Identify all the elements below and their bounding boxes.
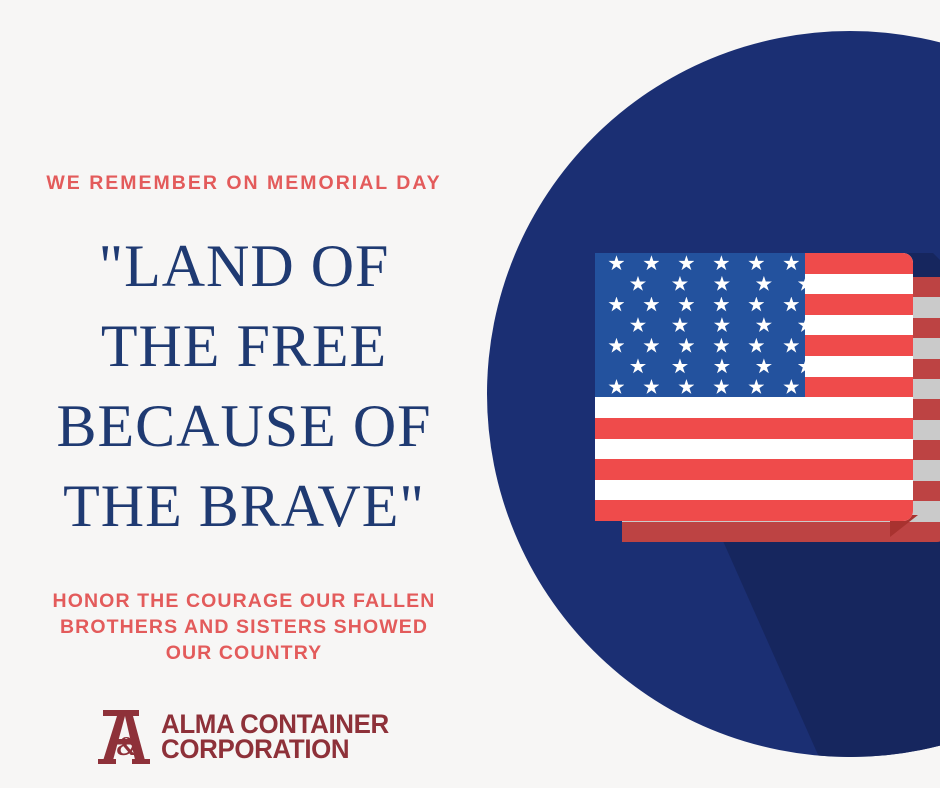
- star-icon: [756, 276, 772, 292]
- star-icon: [748, 255, 764, 271]
- star-icon: [672, 276, 688, 292]
- subtitle-line-3: OUR COUNTRY: [0, 640, 488, 666]
- star-icon: [630, 317, 646, 333]
- star-icon: [608, 338, 624, 354]
- star-icon: [714, 276, 730, 292]
- us-flag-illustration: [595, 253, 925, 543]
- company-logo: & ALMA CONTAINER CORPORATION: [0, 707, 488, 767]
- logo-wordmark: ALMA CONTAINER CORPORATION: [161, 712, 398, 762]
- star-icon: [713, 297, 729, 313]
- eyebrow-text: WE REMEMBER ON MEMORIAL DAY: [0, 172, 488, 195]
- star-icon: [783, 255, 799, 271]
- text-column: WE REMEMBER ON MEMORIAL DAY "LAND OF THE…: [0, 0, 488, 788]
- star-icon: [608, 255, 624, 271]
- star-icon: [798, 276, 814, 292]
- headline-quote: "LAND OF THE FREE BECAUSE OF THE BRAVE": [0, 226, 488, 546]
- star-icon: [643, 338, 659, 354]
- star-icon: [714, 358, 730, 374]
- star-icon: [678, 379, 694, 395]
- star-icon: [608, 297, 624, 313]
- star-icon: [643, 255, 659, 271]
- star-icon: [678, 297, 694, 313]
- star-icon: [756, 317, 772, 333]
- star-icon: [713, 255, 729, 271]
- star-icon: [678, 255, 694, 271]
- star-icon: [748, 379, 764, 395]
- headline-line-4: THE BRAVE": [0, 466, 488, 546]
- star-icon: [798, 358, 814, 374]
- star-icon: [608, 379, 624, 395]
- star-icon: [748, 297, 764, 313]
- star-icon: [714, 317, 730, 333]
- memorial-day-graphic: WE REMEMBER ON MEMORIAL DAY "LAND OF THE…: [0, 0, 940, 788]
- star-icon: [672, 317, 688, 333]
- flag-canton: [595, 253, 805, 397]
- star-icon: [756, 358, 772, 374]
- headline-line-2: THE FREE: [0, 306, 488, 386]
- star-icon: [798, 317, 814, 333]
- headline-line-3: BECAUSE OF: [0, 386, 488, 466]
- star-icon: [783, 379, 799, 395]
- star-icon: [783, 338, 799, 354]
- star-icon: [630, 276, 646, 292]
- star-icon: [643, 379, 659, 395]
- star-icon: [783, 297, 799, 313]
- headline-line-1: "LAND OF: [0, 226, 488, 306]
- star-icon: [643, 297, 659, 313]
- star-icon: [748, 338, 764, 354]
- star-icon: [672, 358, 688, 374]
- star-icon: [678, 338, 694, 354]
- star-icon: [630, 358, 646, 374]
- star-icon: [713, 379, 729, 395]
- star-icon: [713, 338, 729, 354]
- subtitle-line-1: HONOR THE COURAGE OUR FALLEN: [0, 588, 488, 614]
- subtitle-text: HONOR THE COURAGE OUR FALLEN BROTHERS AN…: [0, 588, 488, 666]
- subtitle-line-2: BROTHERS AND SISTERS SHOWED: [0, 614, 488, 640]
- svg-text:&: &: [116, 731, 137, 761]
- logo-line-2: CORPORATION: [161, 737, 389, 762]
- flag-front-layer: [595, 253, 913, 521]
- alma-a-ampersand-monogram-icon: &: [90, 707, 152, 767]
